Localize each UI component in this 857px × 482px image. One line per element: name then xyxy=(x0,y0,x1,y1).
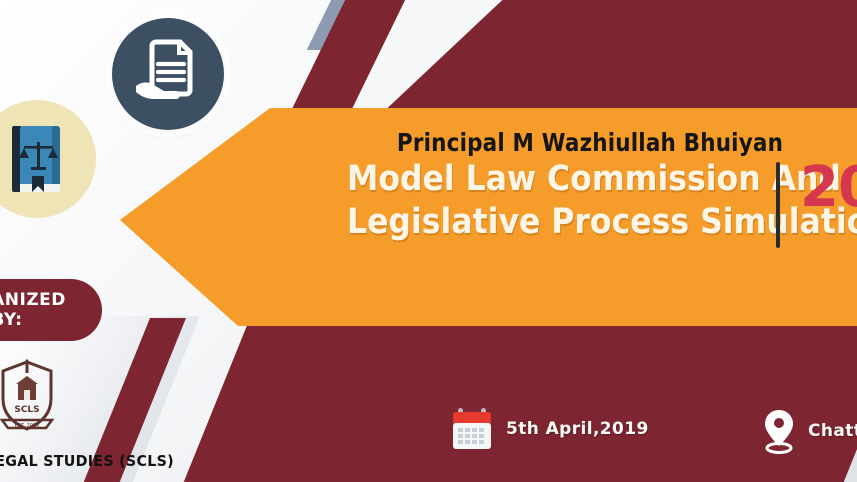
organized-by-label-line-1: ORGANIZED xyxy=(0,290,66,310)
organized-by-label-line-2: BY: xyxy=(0,310,23,330)
document-in-hand-icon xyxy=(134,38,204,112)
organizer-name: ITICAL LEGAL STUDIES (SCLS) xyxy=(0,452,198,470)
year-divider xyxy=(776,162,780,248)
event-poster: Principal M Wazhiullah Bhuiyan Model Law… xyxy=(0,0,857,482)
shield-crest-icon: SCLS EST. 2018 xyxy=(0,358,58,444)
svg-text:EST. 2018: EST. 2018 xyxy=(15,423,40,429)
poster-title-line-1: Model Law Commission And xyxy=(347,160,833,199)
map-pin-icon xyxy=(762,408,796,454)
poster-pretitle: Principal M Wazhiullah Bhuiyan xyxy=(358,130,822,156)
event-date-group: 5th April,2019 xyxy=(452,408,649,450)
calendar-icon xyxy=(452,408,492,450)
organizer-logo: SCLS EST. 2018 xyxy=(0,358,58,444)
event-location-text: Chatt xyxy=(808,421,857,441)
event-location-group: Chatt xyxy=(762,408,857,454)
law-book-scales-icon xyxy=(12,126,64,192)
poster-title-line-2: Legislative Process Simulation xyxy=(347,203,833,242)
organized-by-badge: ORGANIZED BY: xyxy=(0,279,102,341)
law-book-circle xyxy=(0,100,96,218)
document-icon-circle xyxy=(112,18,224,130)
event-year: 20 xyxy=(800,155,857,220)
svg-text:SCLS: SCLS xyxy=(14,405,39,415)
title-banner: Principal M Wazhiullah Bhuiyan Model Law… xyxy=(120,108,857,326)
background-maroon-bottom-block xyxy=(169,318,857,482)
event-date-text: 5th April,2019 xyxy=(506,419,649,439)
